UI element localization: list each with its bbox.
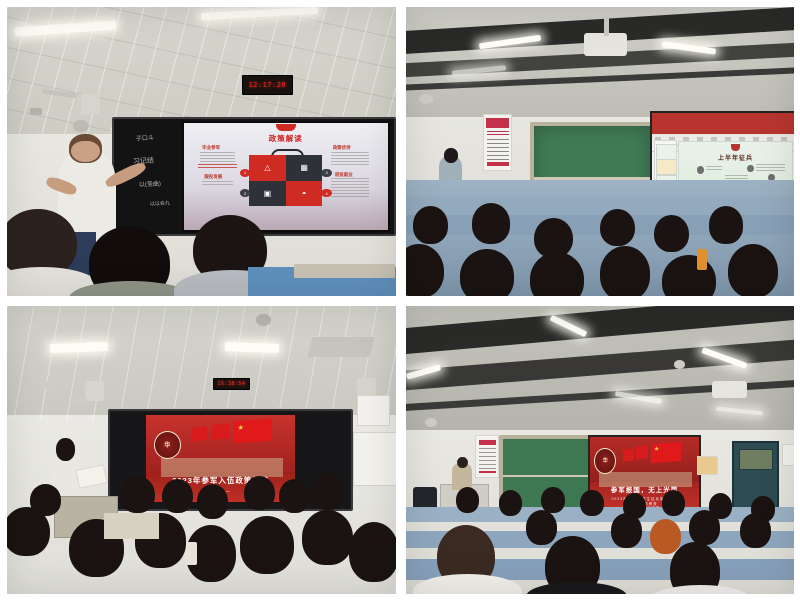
student-head xyxy=(526,510,557,545)
chalk-line: 以(圣曲) xyxy=(139,180,161,190)
slide-label-right-top: 政策优待 xyxy=(333,145,351,151)
classroom-desk xyxy=(294,264,395,278)
poster-header xyxy=(486,118,509,128)
red-flag xyxy=(212,423,230,440)
student-head xyxy=(349,522,396,583)
slide-label-left-bottom: 服役发展 xyxy=(204,174,222,180)
dome-camera-icon xyxy=(419,94,433,104)
ppt-titlebar[interactable] xyxy=(652,113,794,134)
presentation-screen: 政策解读 毕业参军 服役发展 政策优待 退役就业 △ ▦ ▣ xyxy=(182,121,390,232)
student-head xyxy=(728,244,779,296)
dome-camera-icon xyxy=(73,120,89,133)
red-flag xyxy=(636,445,648,459)
student-head xyxy=(654,215,689,253)
photo-top-right: 上半年征兵 xyxy=(406,7,795,296)
photo-top-left: 12:17:20 子口斗 习记结 以(圣曲) 以以会九 政策解读 毕业参军 服役… xyxy=(7,7,396,296)
briefcase-quadrant-3: ▣ xyxy=(249,181,286,207)
slide-label-left-top: 毕业参军 xyxy=(202,145,220,151)
graduation-cap-icon: △ xyxy=(264,163,270,172)
led-clock: 15:38:54 xyxy=(213,378,250,390)
poster-footer xyxy=(479,471,496,474)
dome-camera-icon xyxy=(256,314,272,326)
red-flag xyxy=(623,449,634,463)
ppt-slide-title: 上半年征兵 xyxy=(679,153,792,162)
student-head xyxy=(600,209,635,247)
dome-camera-icon xyxy=(674,360,686,369)
photo-bottom-left: 15:38:54 华 ★ 2023年参军入伍政策解读 ———— xyxy=(7,306,396,595)
briefcase-icon: ▣ xyxy=(264,189,272,198)
student-head xyxy=(244,476,275,511)
slide-tab-decoration xyxy=(731,144,740,151)
water-bottle xyxy=(186,542,198,565)
poster-header xyxy=(479,440,496,446)
student-head xyxy=(689,510,720,545)
slide-marker: 4 xyxy=(321,189,331,197)
cup-icon: ◓ xyxy=(302,189,307,198)
slide-tab-decoration xyxy=(276,124,296,131)
student-head xyxy=(662,490,685,516)
briefcase-quadrant-4: ◓ xyxy=(286,181,323,207)
side-whiteboard xyxy=(353,432,396,486)
presenter-head xyxy=(56,438,75,461)
red-flag xyxy=(191,426,207,442)
poster-text xyxy=(479,448,496,468)
school-emblem: 华 xyxy=(594,448,616,474)
slide-label-right-bottom: 退役就业 xyxy=(335,172,353,178)
wall-poster xyxy=(357,395,390,426)
student-head xyxy=(460,249,514,295)
student-head xyxy=(302,510,353,565)
student-head xyxy=(709,206,744,244)
student-head xyxy=(580,490,603,516)
student-head xyxy=(197,484,228,519)
lecturer-body xyxy=(452,464,471,490)
slide-text-block xyxy=(331,152,370,167)
student-head xyxy=(162,479,193,514)
party-flag: ★ xyxy=(651,441,681,462)
student-head xyxy=(240,516,294,574)
student-head xyxy=(600,246,651,295)
led-clock: 12:17:20 xyxy=(242,75,293,95)
student-head xyxy=(499,490,522,516)
slide-text-block xyxy=(202,181,233,187)
door-window xyxy=(739,449,773,470)
ppt-thumbnail[interactable] xyxy=(656,159,677,175)
student-head xyxy=(611,513,642,548)
timeline-label xyxy=(706,166,722,172)
wall-poster xyxy=(483,114,512,171)
chalk-line: 子口斗 xyxy=(136,134,154,144)
slide-text-block xyxy=(200,152,235,164)
water-bottle xyxy=(697,249,707,269)
led-clock-time: 12:17:20 xyxy=(248,81,286,89)
timeline-node xyxy=(697,166,704,173)
chalk-line: 以以会九 xyxy=(150,200,170,208)
hammer-sickle-icon: ★ xyxy=(654,445,659,452)
slide-marker: 1 xyxy=(240,169,250,177)
student-head xyxy=(472,203,511,243)
hammer-sickle-icon: ★ xyxy=(237,424,243,432)
party-flag: ★ xyxy=(233,419,272,443)
led-clock-time: 15:38:54 xyxy=(217,381,245,387)
student-head xyxy=(279,479,310,514)
wall-poster xyxy=(475,435,498,477)
slide-marker: 3 xyxy=(321,169,331,177)
lecturer-head xyxy=(457,457,468,469)
slide-text-block xyxy=(331,178,370,196)
surveillance-camera-icon xyxy=(30,108,42,115)
wall-speaker xyxy=(81,94,100,114)
wall-sign xyxy=(782,444,794,466)
ceiling-projector xyxy=(712,381,747,398)
student-head xyxy=(413,206,448,244)
timeline-label xyxy=(756,164,785,172)
lecturer-face xyxy=(71,141,99,162)
ceiling-tiles xyxy=(7,306,396,421)
student-head xyxy=(7,507,50,556)
database-icon: ▦ xyxy=(300,163,308,172)
dome-camera-icon xyxy=(73,395,87,405)
student-head xyxy=(456,487,479,513)
student-shirt-graphic xyxy=(104,513,158,539)
photo-collage: 12:17:20 子口斗 习记结 以(圣曲) 以以会九 政策解读 毕业参军 服役… xyxy=(0,0,800,600)
student-head xyxy=(120,476,155,514)
surveillance-camera-icon xyxy=(42,381,58,390)
school-emblem: 华 xyxy=(154,431,181,459)
slide-title: 参军报国，无上光荣 xyxy=(590,484,699,494)
student-head xyxy=(310,473,345,511)
wall-speaker xyxy=(85,381,104,401)
speaker-head xyxy=(444,148,458,162)
timeline-node xyxy=(747,165,754,172)
student-head xyxy=(650,519,681,554)
dome-camera-icon xyxy=(425,418,437,427)
briefcase-graphic: △ ▦ ▣ ◓ xyxy=(249,155,322,206)
slide-title: 政策解读 xyxy=(184,133,388,144)
briefcase-quadrant-2: ▦ xyxy=(286,155,323,181)
poster-text xyxy=(487,131,509,136)
projector-mount xyxy=(604,16,610,36)
ppt-thumbnail[interactable] xyxy=(656,144,677,160)
student-head xyxy=(740,513,771,548)
ceiling-vent xyxy=(307,337,374,357)
poster-text xyxy=(487,139,509,160)
slide-text-block-highlight xyxy=(198,164,237,169)
student-head xyxy=(541,487,564,513)
wall-sign xyxy=(697,456,718,475)
ceiling-projector xyxy=(584,33,627,56)
briefcase-quadrant-1: △ xyxy=(249,155,286,181)
poster-footer xyxy=(487,162,509,166)
photo-bottom-right: 华 ★ 参军报国，无上光荣 2023年度 · 大学生征兵宣传动员 全民国防教育 … xyxy=(406,306,795,595)
